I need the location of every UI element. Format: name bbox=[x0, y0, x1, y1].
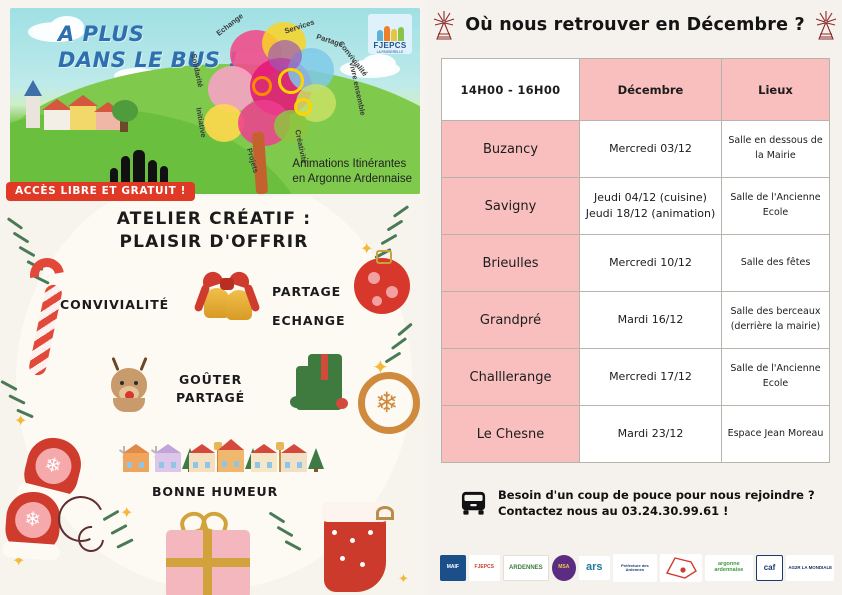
candy-cane-icon bbox=[24, 258, 84, 378]
cell-town: Challlerange bbox=[442, 349, 580, 406]
partner-logo-ag2r: AG2R LA MONDIALE bbox=[786, 555, 834, 581]
cell-town: Savigny bbox=[442, 178, 580, 235]
cell-place: Salle des fêtes bbox=[722, 235, 830, 292]
christmas-bauble-icon bbox=[352, 248, 414, 318]
cell-date: Mercredi 03/12 bbox=[580, 121, 722, 178]
partner-logo-maif: MAIF bbox=[440, 555, 466, 581]
orange-slice-icon: ❄ bbox=[358, 372, 420, 434]
partner-logo-fjepcs: FJEPCS bbox=[469, 555, 500, 581]
cell-place: Espace Jean Moreau bbox=[722, 406, 830, 463]
firework-sparkle-icon bbox=[431, 8, 457, 42]
keyword-gouter: GOÛTER PARTAGÉ bbox=[176, 372, 245, 405]
cell-date: Mardi 23/12 bbox=[580, 406, 722, 463]
cell-place: Salle de l'Ancienne Ecole bbox=[722, 349, 830, 406]
table-row: ChalllerangeMercredi 17/12Salle de l'Anc… bbox=[442, 349, 830, 406]
house-icon bbox=[251, 444, 277, 472]
table-row: GrandpréMardi 16/12Salle des berceaux (d… bbox=[442, 292, 830, 349]
schedule-title: Où nous retrouver en Décembre ? bbox=[465, 15, 805, 35]
workshop-title-line-1: ATELIER CRÉATIF : bbox=[0, 208, 428, 231]
partner-logos: MAIF FJEPCS ARDENNES MSA ars Préfecture … bbox=[440, 548, 834, 588]
contact-text: Besoin d'un coup de pouce pour nous rejo… bbox=[498, 487, 815, 520]
workshop-panel: ✦ ✦ ✦ ✦ ✦ ✦ bbox=[0, 196, 428, 595]
schedule-panel: Où nous retrouver en Décembre ? 14H00 - … bbox=[428, 0, 842, 595]
header-month: Décembre bbox=[580, 59, 722, 121]
cell-date: Mardi 16/12 bbox=[580, 292, 722, 349]
flyer-page: A PLUS DANS LE BUS ! FJEPCS LA PASSERELL… bbox=[0, 0, 842, 595]
stocking-icon bbox=[314, 496, 404, 595]
house-icon bbox=[189, 444, 215, 472]
table-body: BuzancyMercredi 03/12Salle en dessous de… bbox=[442, 121, 830, 463]
house-icon bbox=[281, 444, 307, 472]
banner-footer-line-2: en Argonne Ardennaise bbox=[292, 172, 412, 188]
bells-icon bbox=[196, 268, 258, 320]
house-icon bbox=[155, 444, 181, 472]
cell-town: Brieulles bbox=[442, 235, 580, 292]
partner-logo-argonne-ardennaise: argonne ardennaise bbox=[705, 555, 753, 581]
left-poster: A PLUS DANS LE BUS ! FJEPCS LA PASSERELL… bbox=[0, 0, 428, 595]
village-illustration bbox=[16, 84, 126, 136]
pink-gift-icon bbox=[158, 518, 258, 595]
table-row: SavignyJeudi 04/12 (cuisine)Jeudi 18/12 … bbox=[442, 178, 830, 235]
cell-place: Salle des berceaux (derrière la mairie) bbox=[722, 292, 830, 349]
header-places: Lieux bbox=[722, 59, 830, 121]
bus-icon bbox=[460, 490, 487, 517]
contact-line-1: Besoin d'un coup de pouce pour nous rejo… bbox=[498, 487, 815, 503]
tree-word: Solidarité bbox=[189, 53, 205, 88]
table-row: BuzancyMercredi 03/12Salle en dessous de… bbox=[442, 121, 830, 178]
banner-footer-line-1: Animations Itinérantes bbox=[292, 157, 412, 173]
keyword-convivialite: CONVIVIALITÉ bbox=[60, 297, 169, 312]
contact-line-2: Contactez nous au 03.24.30.99.61 ! bbox=[498, 503, 815, 519]
table-row: Le ChesneMardi 23/12Espace Jean Moreau bbox=[442, 406, 830, 463]
fjepcs-sublabel: LA PASSERELLE bbox=[377, 50, 404, 54]
cell-date: Mercredi 10/12 bbox=[580, 235, 722, 292]
banner-footer: Animations Itinérantes en Argonne Ardenn… bbox=[292, 157, 412, 188]
cell-town: Grandpré bbox=[442, 292, 580, 349]
schedule-title-row: Où nous retrouver en Décembre ? bbox=[428, 8, 842, 42]
grand-est-map-icon bbox=[661, 555, 701, 581]
free-access-badge: ACCÈS LIBRE ET GRATUIT ! bbox=[6, 182, 195, 201]
partner-logo-prefecture: Préfecture des Ardennes bbox=[613, 554, 657, 582]
header-time: 14H00 - 16H00 bbox=[442, 59, 580, 121]
cell-date: Mercredi 17/12 bbox=[580, 349, 722, 406]
keyword-bonne-humeur: BONNE HUMEUR bbox=[152, 484, 278, 499]
cell-place: Salle de l'Ancienne Ecole bbox=[722, 178, 830, 235]
house-icon bbox=[218, 439, 244, 472]
keyword-gouter-line-2: PARTAGÉ bbox=[176, 390, 245, 405]
bus-banner: A PLUS DANS LE BUS ! FJEPCS LA PASSERELL… bbox=[10, 8, 420, 194]
gift-boxes-icon bbox=[286, 352, 356, 414]
schedule-table: 14H00 - 16H00 Décembre Lieux BuzancyMerc… bbox=[441, 58, 830, 463]
keyword-gouter-line-1: GOÛTER bbox=[176, 372, 245, 387]
sparkle-icon: ✦ bbox=[120, 506, 133, 522]
workshop-title: ATELIER CRÉATIF : PLAISIR D'OFFRIR bbox=[0, 208, 428, 254]
partner-logo-caf: caf bbox=[756, 555, 784, 581]
village-row-illustration bbox=[118, 432, 313, 472]
keyword-echange: ECHANGE bbox=[272, 313, 345, 328]
fjepcs-logo: FJEPCS LA PASSERELLE bbox=[368, 14, 412, 54]
sparkle-icon: ✦ bbox=[14, 414, 27, 430]
cell-town: Buzancy bbox=[442, 121, 580, 178]
table-header-row: 14H00 - 16H00 Décembre Lieux bbox=[442, 59, 830, 121]
reindeer-icon bbox=[104, 354, 154, 410]
partner-logo-ars: ars bbox=[579, 556, 610, 580]
partner-logo-grandest bbox=[660, 554, 702, 582]
cell-date: Jeudi 04/12 (cuisine)Jeudi 18/12 (animat… bbox=[580, 178, 722, 235]
cell-place: Salle en dessous de la Mairie bbox=[722, 121, 830, 178]
table-row: BrieullesMercredi 10/12Salle des fêtes bbox=[442, 235, 830, 292]
partner-logo-msa: MSA bbox=[552, 555, 576, 581]
workshop-title-line-2: PLAISIR D'OFFRIR bbox=[0, 231, 428, 254]
fjepcs-label: FJEPCS bbox=[374, 41, 407, 50]
partner-logo-ardennes: ARDENNES bbox=[503, 555, 549, 581]
contact-block: Besoin d'un coup de pouce pour nous rejo… bbox=[460, 487, 815, 520]
keyword-partage: PARTAGE bbox=[272, 284, 341, 299]
house-icon bbox=[123, 444, 149, 472]
cell-town: Le Chesne bbox=[442, 406, 580, 463]
people-icon bbox=[377, 24, 404, 41]
firework-sparkle-icon bbox=[813, 8, 839, 42]
